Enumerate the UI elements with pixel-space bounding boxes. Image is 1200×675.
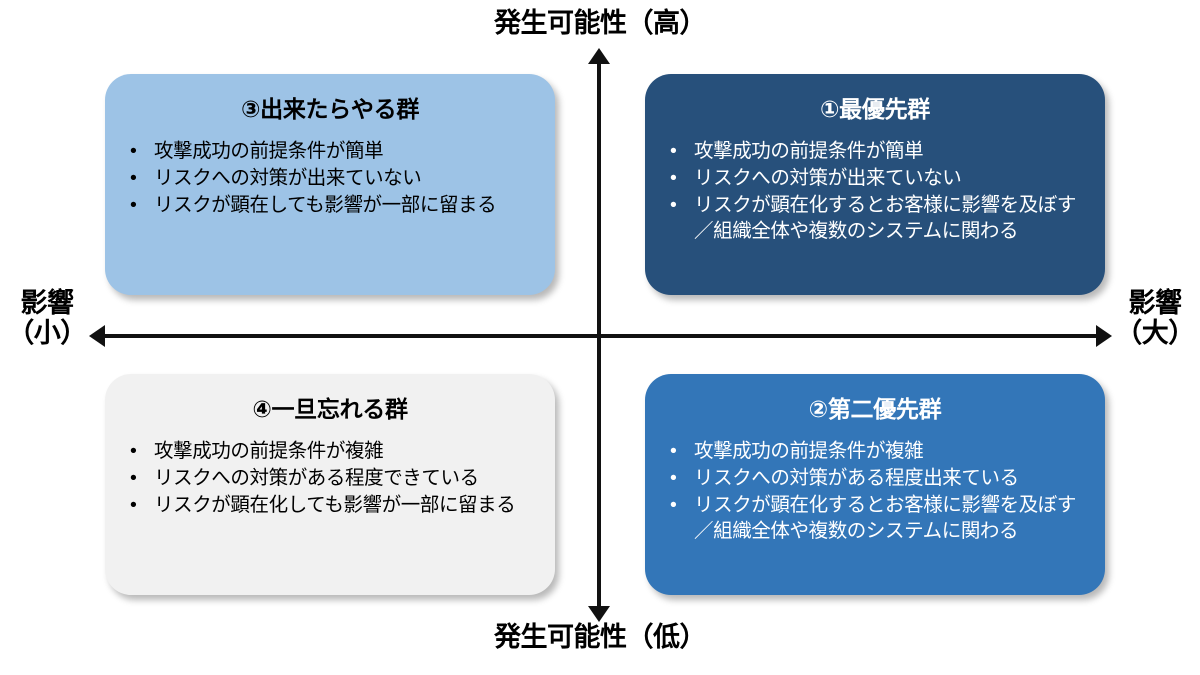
list-item-text: リスクが顕在化しても影響が一部に留まる [154, 494, 515, 516]
axis-label-bottom: 発生可能性（低） [0, 622, 1200, 652]
bullet-icon: • [130, 438, 136, 464]
quadrant-bottom-right-title: ②第二優先群 [663, 390, 1087, 424]
list-item: •攻撃成功の前提条件が複雑 [123, 438, 537, 464]
bullet-icon: • [670, 165, 676, 191]
quadrant-top-left-title: ③出来たらやる群 [123, 90, 537, 124]
list-item: •攻撃成功の前提条件が簡単 [123, 138, 537, 164]
quadrant-bottom-left-title: ④一旦忘れる群 [123, 390, 537, 424]
list-item-text: リスクが顕在しても影響が一部に留まる [154, 194, 496, 216]
list-item: •リスクへの対策がある程度できている [123, 465, 537, 491]
bullet-icon: • [130, 492, 136, 518]
arrow-up-icon [588, 48, 610, 64]
list-item: •攻撃成功の前提条件が簡単 [663, 138, 1087, 164]
bullet-icon: • [670, 465, 676, 491]
axis-label-left: 影響 （小） [4, 288, 90, 348]
bullet-icon: • [670, 492, 676, 518]
list-item: •リスクへの対策が出来ていない [123, 165, 537, 191]
list-item-text: 攻撃成功の前提条件が複雑 [154, 440, 383, 462]
bullet-icon: • [130, 165, 136, 191]
list-item-text: リスクが顕在化するとお客様に影響を及ぼす／組織全体や複数のシステムに関わる [694, 494, 1076, 542]
list-item-text: 攻撃成功の前提条件が簡単 [694, 140, 923, 162]
list-item: •リスクが顕在化するとお客様に影響を及ぼす／組織全体や複数のシステムに関わる [663, 492, 1087, 544]
bullet-icon: • [130, 465, 136, 491]
axis-label-right: 影響 （大） [1112, 288, 1198, 348]
list-item: •リスクが顕在化しても影響が一部に留まる [123, 492, 537, 518]
horizontal-axis-line [100, 334, 1105, 338]
list-item-text: リスクへの対策がある程度出来ている [694, 467, 1019, 489]
bullet-icon: • [130, 192, 136, 218]
bullet-icon: • [670, 138, 676, 164]
list-item-text: リスクへの対策が出来ていない [694, 167, 961, 189]
bullet-icon: • [130, 138, 136, 164]
quadrant-bottom-right-list: •攻撃成功の前提条件が複雑 •リスクへの対策がある程度出来ている •リスクが顕在… [663, 438, 1087, 545]
list-item-text: リスクが顕在化するとお客様に影響を及ぼす／組織全体や複数のシステムに関わる [694, 194, 1076, 242]
quadrant-bottom-left-list: •攻撃成功の前提条件が複雑 •リスクへの対策がある程度できている •リスクが顕在… [123, 438, 537, 518]
list-item: •リスクへの対策が出来ていない [663, 165, 1087, 191]
list-item: •リスクが顕在化するとお客様に影響を及ぼす／組織全体や複数のシステムに関わる [663, 192, 1087, 244]
bullet-icon: • [670, 438, 676, 464]
arrow-left-icon [89, 325, 105, 347]
list-item-text: リスクへの対策がある程度できている [154, 467, 479, 489]
list-item: •リスクへの対策がある程度出来ている [663, 465, 1087, 491]
quadrant-top-right-list: •攻撃成功の前提条件が簡単 •リスクへの対策が出来ていない •リスクが顕在化する… [663, 138, 1087, 245]
arrow-down-icon [588, 606, 610, 622]
list-item-text: リスクへの対策が出来ていない [154, 167, 421, 189]
quadrant-top-left: ③出来たらやる群 •攻撃成功の前提条件が簡単 •リスクへの対策が出来ていない •… [105, 74, 555, 295]
arrow-right-icon [1096, 325, 1112, 347]
axis-label-top: 発生可能性（高） [0, 8, 1200, 38]
list-item: •攻撃成功の前提条件が複雑 [663, 438, 1087, 464]
quadrant-top-right-title: ①最優先群 [663, 90, 1087, 124]
list-item-text: 攻撃成功の前提条件が簡単 [154, 140, 383, 162]
list-item: •リスクが顕在しても影響が一部に留まる [123, 192, 537, 218]
list-item-text: 攻撃成功の前提条件が複雑 [694, 440, 923, 462]
quadrant-bottom-left: ④一旦忘れる群 •攻撃成功の前提条件が複雑 •リスクへの対策がある程度できている… [105, 374, 555, 595]
quadrant-top-right: ①最優先群 •攻撃成功の前提条件が簡単 •リスクへの対策が出来ていない •リスク… [645, 74, 1105, 295]
quadrant-bottom-right: ②第二優先群 •攻撃成功の前提条件が複雑 •リスクへの対策がある程度出来ている … [645, 374, 1105, 595]
bullet-icon: • [670, 192, 676, 218]
quadrant-top-left-list: •攻撃成功の前提条件が簡単 •リスクへの対策が出来ていない •リスクが顕在しても… [123, 138, 537, 218]
risk-matrix-diagram: 発生可能性（高） 発生可能性（低） 影響 （小） 影響 （大） ③出来たらやる群… [0, 0, 1200, 675]
